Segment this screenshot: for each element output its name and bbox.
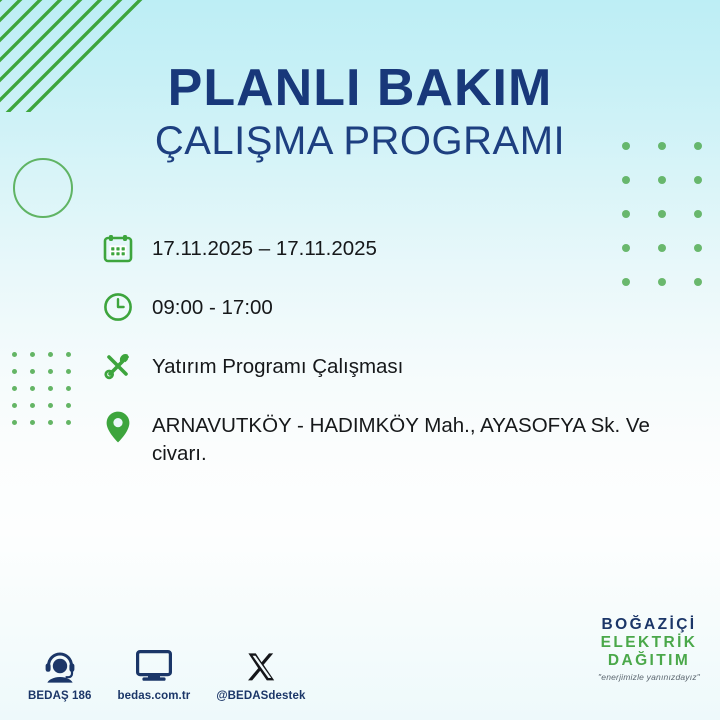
detail-time-value: 09:00 - 17:00 xyxy=(152,287,273,322)
decoration-dot xyxy=(12,420,17,425)
monitor-icon xyxy=(135,643,173,683)
decoration-dot xyxy=(30,386,35,391)
decoration-dot xyxy=(66,403,71,408)
decoration-dot xyxy=(694,210,702,218)
brand-line-1: BOĞAZİÇİ xyxy=(598,616,700,634)
contact-channels: BEDAŞ 186 bedas.com.tr xyxy=(28,643,331,702)
decoration-dot xyxy=(66,352,71,357)
x-logo-icon xyxy=(245,643,277,683)
decoration-dot xyxy=(30,420,35,425)
map-pin-icon xyxy=(98,405,138,447)
contact-social-label: @BEDASdestek xyxy=(216,690,305,702)
headset-icon xyxy=(43,643,77,683)
poster-title-block: PLANLI BAKIM ÇALIŞMA PROGRAMI xyxy=(0,62,720,164)
decoration-dot xyxy=(12,352,17,357)
decoration-dot xyxy=(30,403,35,408)
decoration-dot xyxy=(12,386,17,391)
decoration-dot xyxy=(48,403,53,408)
decoration-dot xyxy=(66,369,71,374)
contact-phone[interactable]: BEDAŞ 186 xyxy=(28,643,92,702)
contact-social-x[interactable]: @BEDASdestek xyxy=(216,643,305,702)
decoration-dot xyxy=(622,210,630,218)
detail-row-location: ARNAVUTKÖY - HADIMKÖY Mah., AYASOFYA Sk.… xyxy=(98,405,698,468)
decoration-dot xyxy=(30,369,35,374)
detail-row-work: Yatırım Programı Çalışması xyxy=(98,346,698,386)
planned-maintenance-poster: PLANLI BAKIM ÇALIŞMA PROGRAMI xyxy=(0,0,720,720)
detail-date-value: 17.11.2025 – 17.11.2025 xyxy=(152,228,377,263)
dot-grid-left-decoration xyxy=(12,352,71,425)
maintenance-details: 17.11.2025 – 17.11.2025 09:00 - 17:00 xyxy=(98,228,698,487)
decoration-dot xyxy=(658,176,666,184)
decoration-dot xyxy=(48,369,53,374)
contact-website-label: bedas.com.tr xyxy=(118,690,191,702)
tools-icon xyxy=(98,346,138,386)
brand-line-3: DAĞITIM xyxy=(598,652,700,670)
circle-outline-decoration xyxy=(13,158,73,218)
decoration-dot xyxy=(48,420,53,425)
decoration-dot xyxy=(622,176,630,184)
detail-location-value: ARNAVUTKÖY - HADIMKÖY Mah., AYASOFYA Sk.… xyxy=(152,405,692,468)
poster-footer: BEDAŞ 186 bedas.com.tr xyxy=(0,626,720,704)
contact-phone-label: BEDAŞ 186 xyxy=(28,690,92,702)
decoration-dot xyxy=(66,386,71,391)
page-title: PLANLI BAKIM xyxy=(0,62,720,115)
page-subtitle: ÇALIŞMA PROGRAMI xyxy=(0,119,720,164)
bedas-logo: BOĞAZİÇİ ELEKTRİK DAĞITIM "enerjimizle y… xyxy=(598,616,700,682)
decoration-dot xyxy=(12,403,17,408)
brand-line-2: ELEKTRİK xyxy=(598,634,700,652)
detail-row-time: 09:00 - 17:00 xyxy=(98,287,698,327)
brand-tagline: "enerjimizle yanınızdayız" xyxy=(598,672,700,682)
decoration-dot xyxy=(30,352,35,357)
calendar-icon xyxy=(98,228,138,268)
contact-website[interactable]: bedas.com.tr xyxy=(118,643,191,702)
decoration-dot xyxy=(694,176,702,184)
decoration-dot xyxy=(48,386,53,391)
clock-icon xyxy=(98,287,138,327)
decoration-dot xyxy=(12,369,17,374)
detail-work-value: Yatırım Programı Çalışması xyxy=(152,346,403,381)
decoration-dot xyxy=(658,210,666,218)
decoration-dot xyxy=(48,352,53,357)
decoration-dot xyxy=(66,420,71,425)
detail-row-date: 17.11.2025 – 17.11.2025 xyxy=(98,228,698,268)
